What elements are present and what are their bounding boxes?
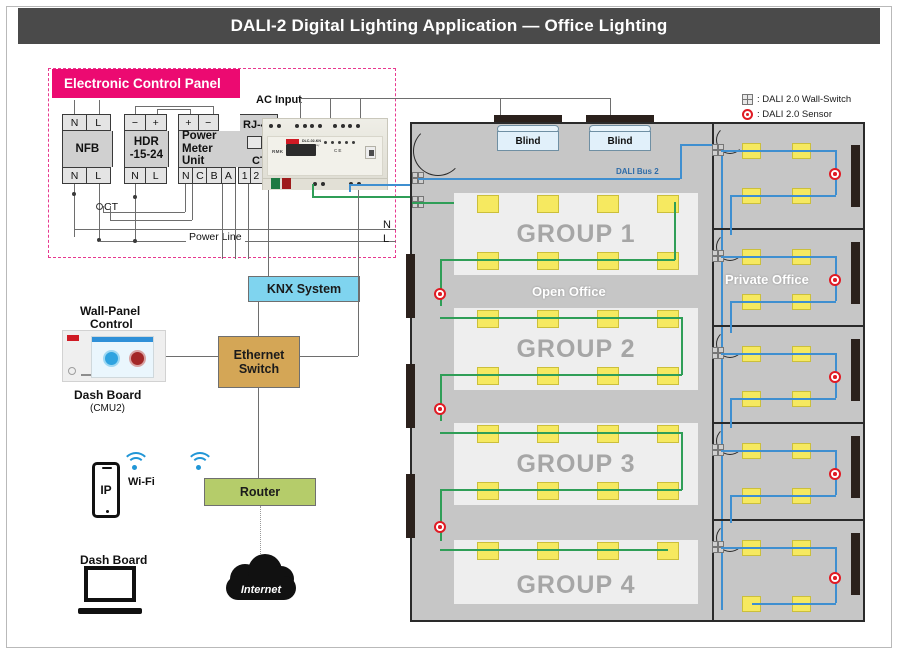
bus2-lead-h [349,184,412,186]
sensor [829,572,841,584]
nfb-bottom-terminal-n: N [62,167,87,184]
nfb-top-l-lead [99,100,100,114]
hdr-module-body: HDR -15-24 [124,131,169,167]
ac-lead-v2 [330,98,331,118]
ethernet-switch-box[interactable]: Ethernet Switch [218,336,300,388]
bus2-o3-bottom [730,398,836,400]
blind-1[interactable]: Blind [497,131,559,151]
bus2-o4-bottom [730,495,836,497]
bus2-o2-left [730,301,732,333]
wall-switch-icon [742,94,753,105]
switch-to-router [258,388,259,478]
pmu-label-line2: Meter [182,143,213,156]
private-office-4-window [851,436,860,498]
switch-right-lead-h [300,356,358,357]
wall-panel-title-1: Wall-Panel [80,304,140,318]
phone-home-button[interactable] [106,510,110,514]
hdr-top-terminal-minus: − [124,114,146,131]
luminaire [537,310,559,328]
din-mark-label: RMK [272,149,283,154]
hdr-bottom-terminal-n: N [124,167,146,184]
ethernet-switch-label-1: Ethernet [234,348,285,362]
legend-row-sensor: : DALI 2.0 Sensor [742,107,851,122]
luminaire [537,542,559,560]
page-title-bar: DALI-2 Digital Lighting Application — Of… [18,8,880,44]
bus2-o2-top [721,256,836,258]
power-line-l-junction [133,239,137,243]
pmu-jumper-down-right [213,106,214,114]
bus2-o3-left [730,398,732,428]
ac-lead-v3 [360,98,361,118]
bus2-o4-left [730,495,732,523]
wall-panel-brand-icon [67,335,79,341]
bus2-label: DALI Bus 2 [616,167,659,176]
ct-lead-1v [185,184,186,212]
din-top-terminals-left [269,124,281,128]
laptop-caption: Dash Board [80,553,147,567]
blind-2-label: Blind [608,136,633,147]
sensor [829,468,841,480]
group-1-label: GROUP 1 [516,220,635,249]
pmu-top-terminal-plus: + [178,114,199,131]
wall-panel-control-on[interactable] [103,350,120,367]
bus1-g4-run [440,549,668,551]
wallpanel-to-switch [166,356,218,357]
open-office-door-arc [413,126,463,176]
ct-drop-left [103,206,104,212]
luminaire [597,195,619,213]
router-label: Router [240,485,280,499]
knx-system-label: KNX System [267,282,341,296]
rj45-port [247,136,262,149]
bus1-g3-return [440,489,682,491]
bus2-o2-bottom [730,301,836,303]
nfb-module-body: NFB [62,131,113,167]
private-office-divider-4 [714,519,865,521]
luminaire [657,252,679,270]
din-faceplate: DLC-02-KN DLC Gateway RMK CE [267,136,383,176]
hdr-n-junction [133,195,137,199]
din-top-terminals-mid [295,124,322,128]
din-bus1-plug [271,178,280,189]
pmu-plus-link [190,109,191,114]
nfb-label: NFB [76,143,100,156]
bus1-g2-riser [681,317,683,375]
luminaire [537,367,559,385]
hdr-sub-label: -15-24 [130,149,163,162]
switch-right-lead-v [358,190,359,356]
bus1-g3-left [440,489,442,541]
wall-panel-caption: Dash Board [74,388,141,402]
luminaire [597,425,619,443]
bus2-o5-top [721,547,836,549]
ct-lead-2 [110,220,192,221]
din-status-leds [324,141,355,144]
pmu-bottom-terminal-n: N [178,167,194,184]
bus1-lead-h [312,196,412,198]
nfb-l-out [99,184,100,242]
luminaire [657,482,679,500]
bus1-g3-top [440,432,682,434]
pmu-top-terminal-minus: − [198,114,219,131]
router-box[interactable]: Router [204,478,316,506]
legend-row-wall-switch: : DALI 2.0 Wall-Switch [742,92,851,107]
luminaire [537,195,559,213]
private-office-5-window [851,533,860,595]
wifi-label: Wi-Fi [128,476,155,488]
pmu-label-line1: Power [182,130,217,143]
laptop-base [78,608,142,614]
power-line-l-label: L [383,233,389,245]
electronic-control-panel-title: Electronic Control Panel [52,76,221,91]
group-4-label: GROUP 4 [516,571,635,600]
hdr-pmu-jumper-top [135,106,213,107]
luminaire [657,310,679,328]
blind-head-2 [586,115,654,122]
pmu-bottom-terminals: N C B A 1 2 3 [178,167,275,184]
luminaire [537,425,559,443]
open-office-window-2 [406,364,415,428]
dali-controller-module: DLC-02-KN DLC Gateway RMK CE [262,118,388,190]
pmu-module-body: Power Meter Unit [178,131,244,167]
hdr-jumper-down-left [135,106,136,114]
ac-lead-top-2 [360,98,500,99]
nfb-bottom-terminal-l: L [86,167,111,184]
bus1-g2-top [440,317,682,319]
bus2-riser [680,144,682,179]
ct2-lead [235,184,236,259]
sensor [434,521,446,533]
bus2-o1-left [730,195,732,235]
page-title: DALI-2 Digital Lighting Application — Of… [231,16,668,36]
nfb-bottom-terminals: N L [62,167,111,184]
open-office-window-3 [406,474,415,538]
luminaire [477,252,499,270]
bus2-o5-bottom [752,603,836,605]
power-line-n-label: N [383,219,391,231]
din-power-plug [282,178,291,189]
blind-2[interactable]: Blind [589,131,651,151]
ethernet-switch-label-2: Switch [239,362,279,376]
hdr-top-terminal-plus: + [145,114,167,131]
private-office-divider-3 [714,422,865,424]
phone-ip-label: IP [95,483,117,497]
nfb-top-n-lead [74,100,75,114]
legend-sensor-label: : DALI 2.0 Sensor [757,109,832,120]
sensor [829,371,841,383]
nfb-top-terminal-n: N [62,114,87,131]
knx-system-box[interactable]: KNX System [248,276,360,302]
hdr-label: HDR [134,136,159,149]
ct-lead-1 [103,212,185,213]
bus2-o1-top [721,150,836,152]
laptop-device[interactable] [78,566,142,614]
legend: : DALI 2.0 Wall-Switch : DALI 2.0 Sensor [742,92,851,122]
din-display [286,144,316,156]
bus1-g1-riser [674,202,676,260]
private-office-3-window [851,339,860,401]
phone-speaker [102,467,112,469]
luminaire [597,367,619,385]
knx-top-lead [268,190,269,276]
luminaire [477,195,499,213]
legend-wall-switch-label: : DALI 2.0 Wall-Switch [757,94,851,105]
luminaire [537,482,559,500]
wifi-icon-phone [122,452,148,474]
pmu-bottom-terminal-c: C [192,167,208,184]
sensor-icon [742,109,753,120]
luminaire [477,425,499,443]
wall-panel-title-2: Control [90,317,133,331]
wall-panel-device[interactable] [62,330,166,382]
bus2-o4-top [721,450,836,452]
luminaire [477,367,499,385]
ct3-lead [248,184,249,259]
sensor [434,403,446,415]
group-3-label: GROUP 3 [516,450,635,479]
bus1-g3-riser [681,432,683,490]
hdr-bottom-terminals: N L [124,167,167,184]
wall-panel-model: (CMU2) [90,403,125,414]
din-bottom-terminals-mid [313,182,325,186]
nfb-top-terminal-l: L [86,114,111,131]
sensor [829,274,841,286]
luminaire [477,542,499,560]
bus2-o3-top [721,353,836,355]
din-rj45-port [365,146,376,159]
luminaire [657,542,679,560]
wifi-icon-router [186,452,212,474]
wall-panel-screen[interactable] [91,336,154,378]
wall-panel-status-bar [92,337,153,342]
luminaire [657,195,679,213]
blind-1-label: Blind [516,136,541,147]
ac-input-label: AC Input [256,94,302,106]
luminaire [477,482,499,500]
private-office-2-window [851,242,860,304]
bus1-g2-return [440,374,682,376]
nfb-top-terminals: N L [62,114,111,131]
luminaire [657,367,679,385]
nfb-n-junction [72,192,76,196]
open-office-label: Open Office [532,284,606,299]
luminaire [657,425,679,443]
hdr-plus-link [157,109,190,110]
hdr-top-terminals: − + [124,114,167,131]
hdr-bottom-terminal-l: L [145,167,167,184]
router-to-internet [260,506,261,554]
pmu-bottom-terminal-b: B [206,167,222,184]
laptop-screen [84,566,136,602]
hdr-n-drop [135,184,136,241]
bus1-lead-v [312,184,314,196]
luminaire [597,542,619,560]
open-office-window-1 [406,254,415,318]
wall-panel-knob-icon[interactable] [68,367,76,375]
ac-lead-v1 [300,98,301,118]
private-office-label: Private Office [725,272,809,287]
sensor [829,168,841,180]
ct-ring-icon [96,203,103,210]
din-model-label: DLC-02-KN [302,139,321,143]
mobile-phone-device[interactable]: IP [92,462,120,518]
ac-lead-top-3 [500,98,610,99]
internet-label: Internet [222,584,300,596]
diagram-page: DALI-2 Digital Lighting Application — Of… [0,0,900,655]
electronic-control-panel-header: Electronic Control Panel [52,69,240,98]
din-top-terminals-right [333,124,360,128]
ct-drop-right [110,206,111,220]
group-2-label: GROUP 2 [516,335,635,364]
pmu-bottom-terminal-a: A [221,167,237,184]
ct-lead-2v [192,184,193,220]
luminaire [537,252,559,270]
private-office-divider-2 [714,325,865,327]
pmu-top-terminals: + − [178,114,219,131]
private-office-divider-1 [714,228,865,230]
ct1-lead [222,184,223,259]
bus1-g1-return [440,259,675,261]
blind-head-1 [494,115,562,122]
bus2-main-run [418,178,680,180]
wall-panel-control-off[interactable] [129,350,146,367]
din-cert-label: CE [334,148,342,153]
internet-cloud: Internet [222,552,300,608]
knx-to-switch [258,302,259,336]
private-office-1-window [851,145,860,207]
luminaire [597,252,619,270]
luminaire [597,482,619,500]
luminaire [477,310,499,328]
sensor [434,288,446,300]
luminaire [597,310,619,328]
bus2-o1-bottom [730,195,836,197]
